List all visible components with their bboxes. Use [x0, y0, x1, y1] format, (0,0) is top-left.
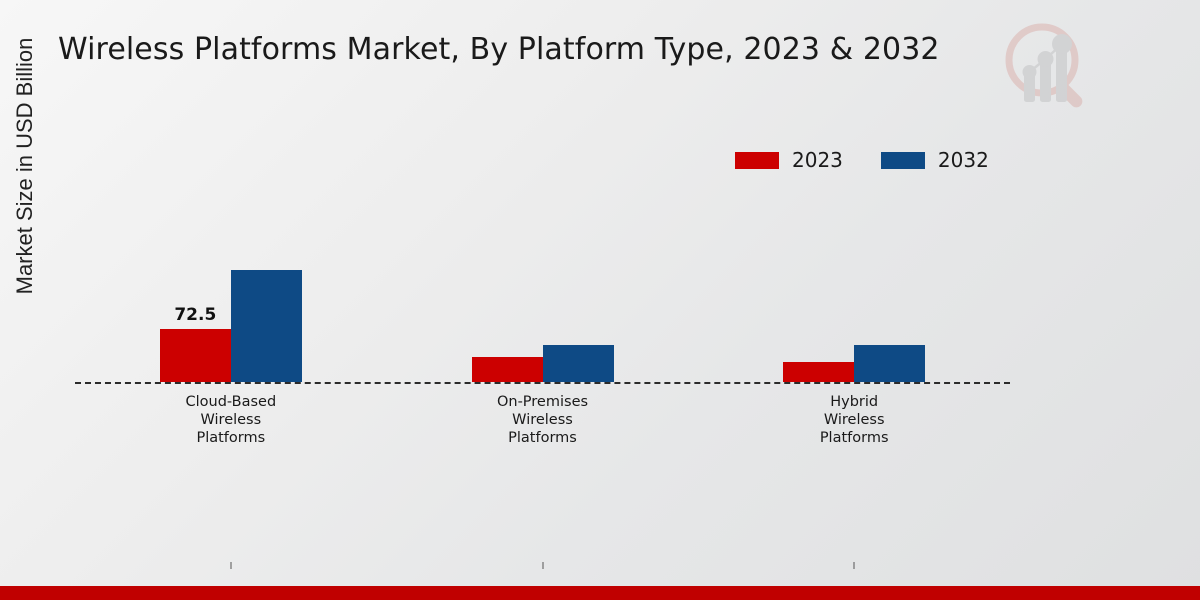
- bar-2023-hybrid[interactable]: [783, 362, 854, 382]
- bar-2023-on-premises[interactable]: [472, 357, 543, 382]
- bar-pair: [472, 180, 614, 382]
- bar-pair: [783, 180, 925, 382]
- axis-tick: [854, 562, 855, 569]
- category-line-1: On-Premises: [387, 393, 699, 411]
- category-line-3: Platforms: [75, 429, 387, 447]
- x-axis-baseline: [75, 382, 1010, 384]
- bar-pair: 72.5: [160, 180, 302, 382]
- bar-2032-hybrid[interactable]: [854, 345, 925, 382]
- x-axis-label-on-premises: On-Premises Wireless Platforms: [387, 393, 699, 447]
- x-axis-label-cloud-based: Cloud-Based Wireless Platforms: [75, 393, 387, 447]
- footer-accent-bar: [0, 586, 1200, 600]
- category-line-2: Wireless: [387, 411, 699, 429]
- bar-value-label: 72.5: [174, 305, 216, 325]
- bar-2032-cloud-based[interactable]: [231, 270, 302, 382]
- chart-canvas: Wireless Platforms Market, By Platform T…: [0, 0, 1200, 600]
- bar-2023-cloud-based[interactable]: 72.5: [160, 329, 231, 382]
- category-line-2: Wireless: [698, 411, 1010, 429]
- bar-group-cloud-based: 72.5: [75, 180, 387, 382]
- bar-group-on-premises: [387, 180, 699, 382]
- x-axis-label-hybrid: Hybrid Wireless Platforms: [698, 393, 1010, 447]
- bar-group-hybrid: [698, 180, 1010, 382]
- category-line-2: Wireless: [75, 411, 387, 429]
- category-line-1: Hybrid: [698, 393, 1010, 411]
- category-line-1: Cloud-Based: [75, 393, 387, 411]
- plot-area: 72.5: [0, 0, 1200, 600]
- category-line-3: Platforms: [698, 429, 1010, 447]
- category-line-3: Platforms: [387, 429, 699, 447]
- axis-tick: [542, 562, 543, 569]
- bar-groups: 72.5: [75, 180, 1010, 382]
- bar-2032-on-premises[interactable]: [543, 345, 614, 382]
- x-axis-category-labels: Cloud-Based Wireless Platforms On-Premis…: [75, 393, 1010, 447]
- axis-tick: [230, 562, 231, 569]
